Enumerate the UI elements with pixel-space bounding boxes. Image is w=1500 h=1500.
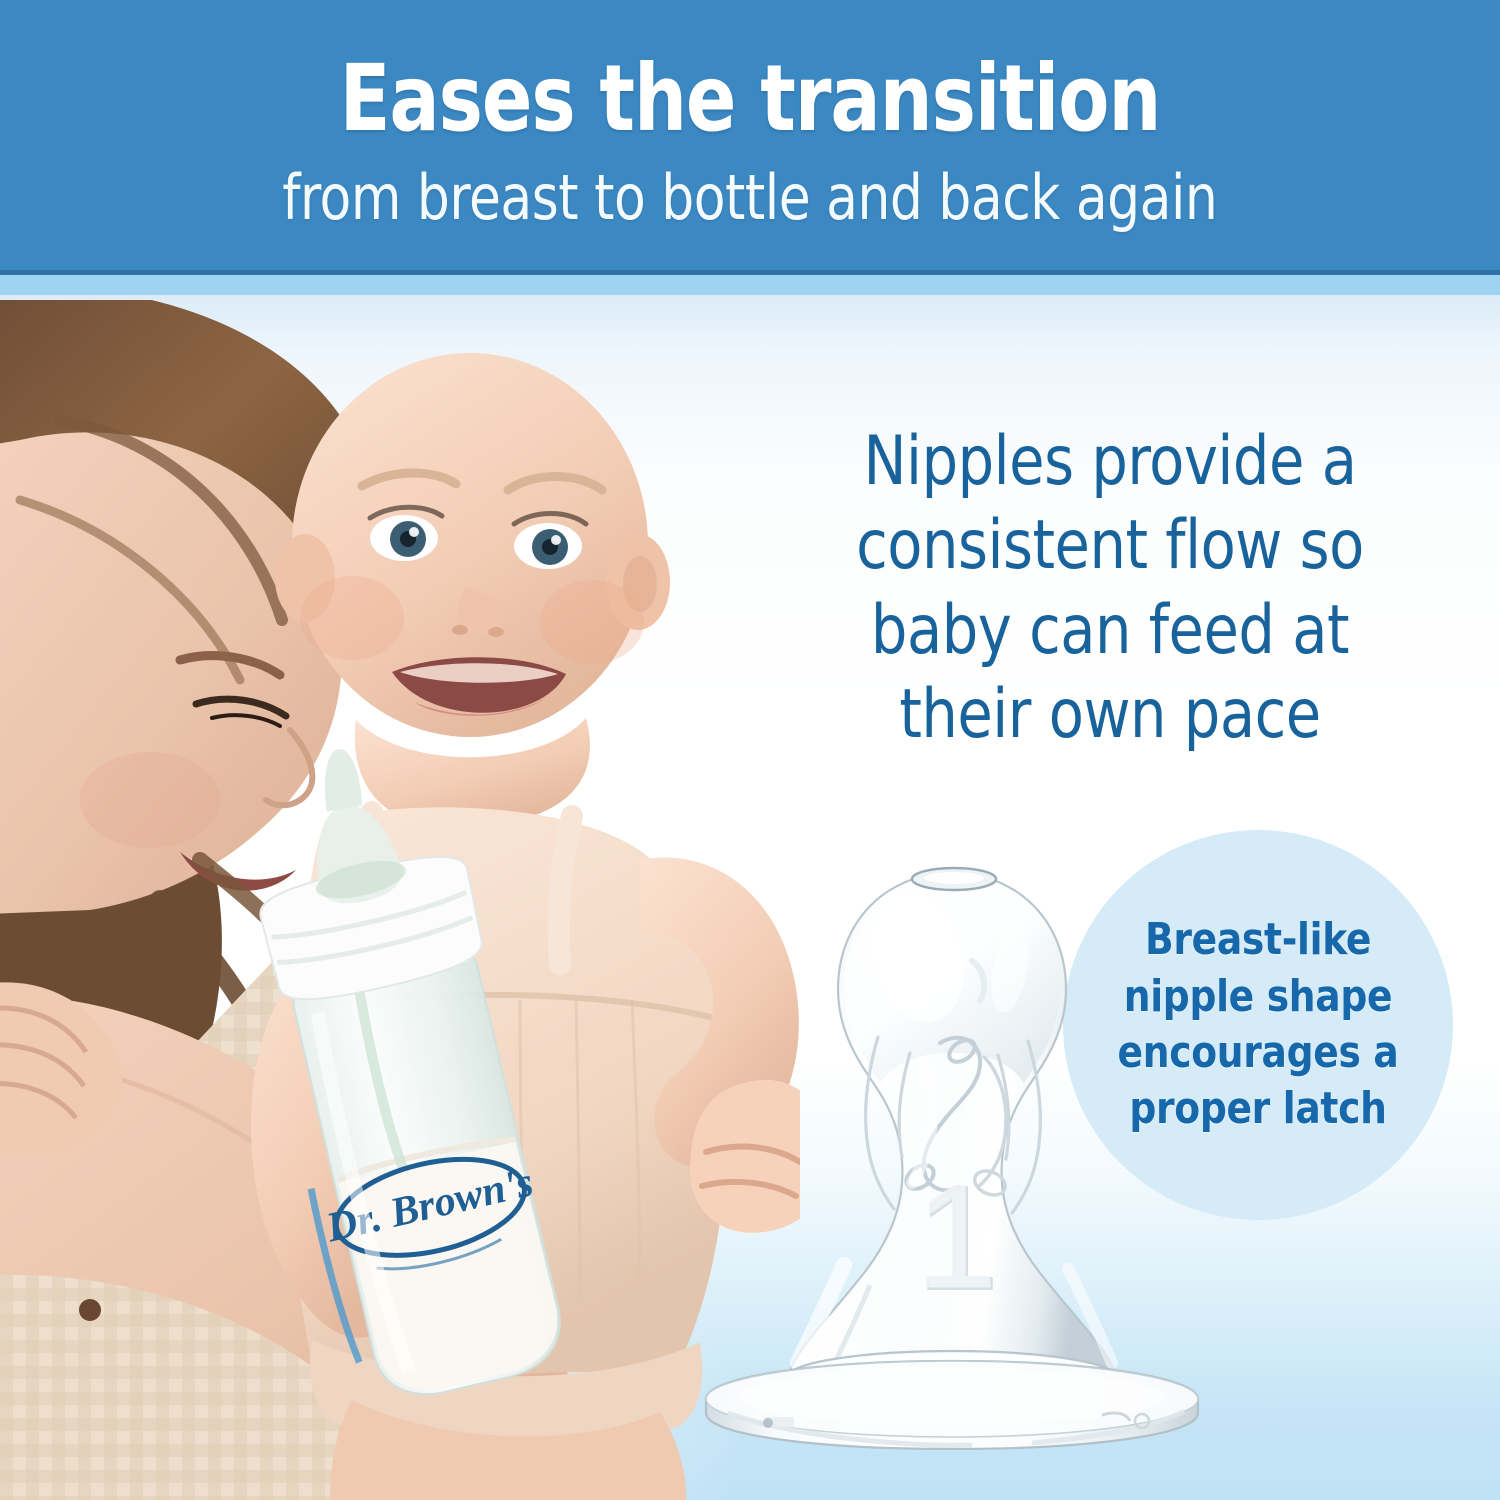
product-marketing-image: Eases the transition from breast to bott… — [0, 0, 1500, 1500]
page-title: Eases the transition — [340, 53, 1161, 145]
product-nipple-image: 1 1 — [672, 865, 1232, 1450]
header-band: Eases the transition from breast to bott… — [0, 0, 1500, 295]
header-accent-strip — [0, 275, 1500, 295]
header-text-block: Eases the transition from breast to bott… — [0, 0, 1500, 275]
feature-description: Nipples provide a consistent flow so bab… — [819, 420, 1402, 757]
svg-text:1: 1 — [915, 1154, 997, 1319]
page-subtitle: from breast to bottle and back again — [282, 167, 1217, 229]
